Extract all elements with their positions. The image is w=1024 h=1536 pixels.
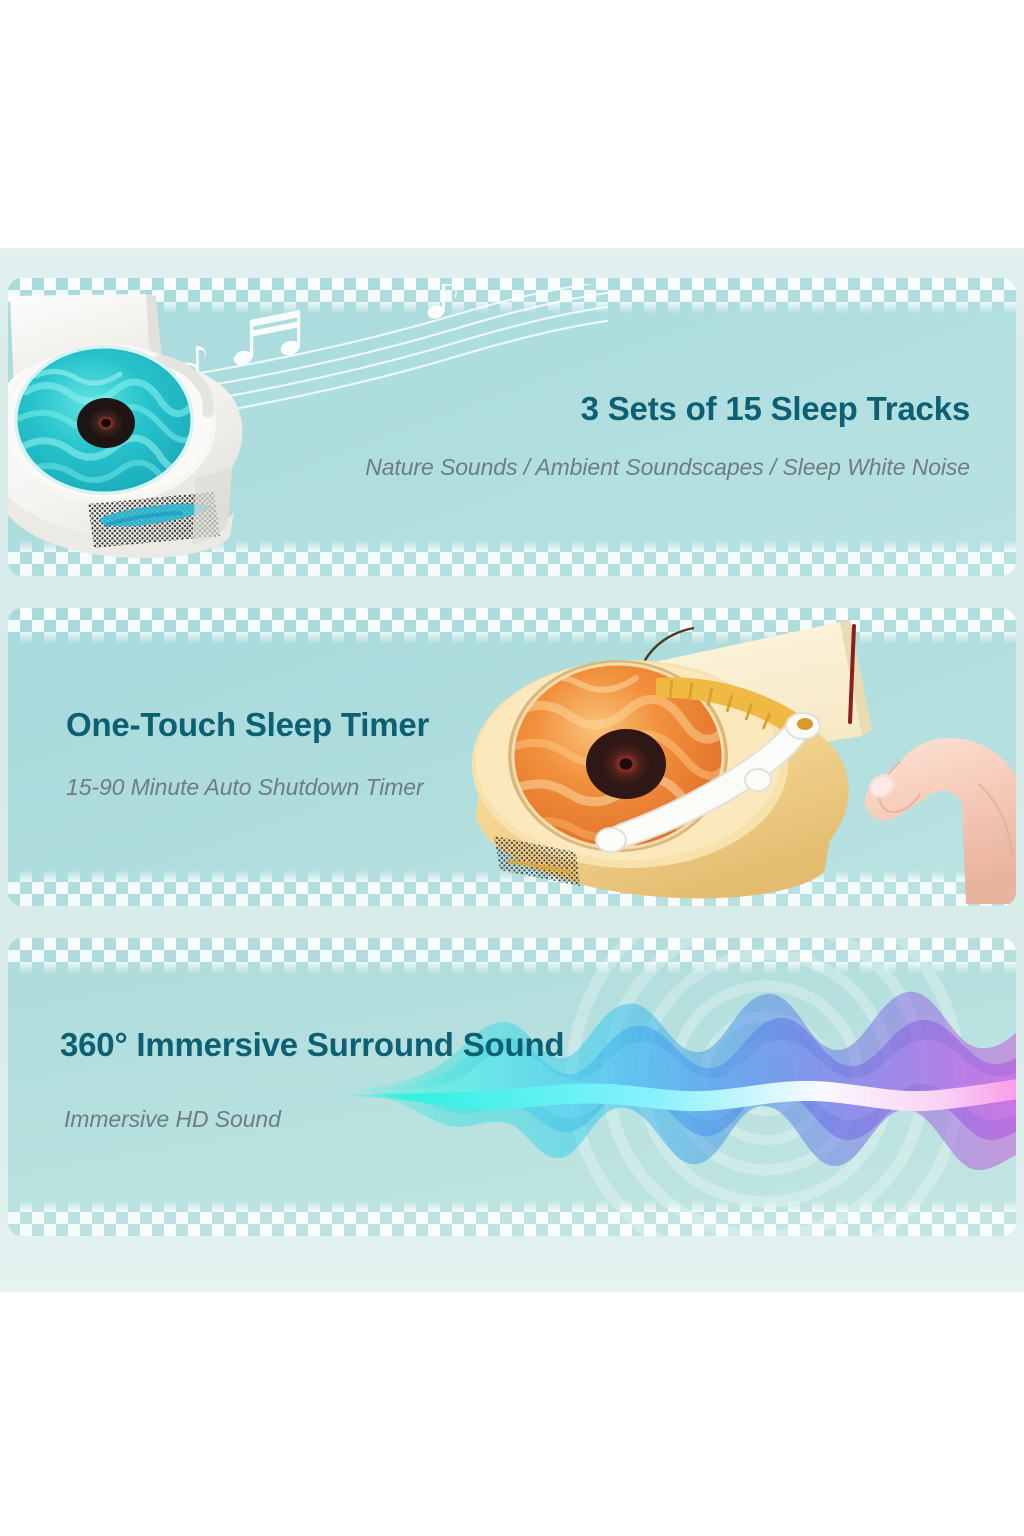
panel-headline: 3 Sets of 15 Sleep Tracks <box>581 390 970 428</box>
panel-subline: Nature Sounds / Ambient Soundscapes / Sl… <box>365 454 970 481</box>
panel-subline: 15-90 Minute Auto Shutdown Timer <box>66 774 424 801</box>
yellow-record-player-image <box>458 608 1016 904</box>
product-feature-graphic: 3 Sets of 15 Sleep Tracks Nature Sounds … <box>0 0 1024 1536</box>
feature-panel-sleep-timer: One-Touch Sleep Timer 15-90 Minute Auto … <box>8 608 1016 906</box>
panel-headline: One-Touch Sleep Timer <box>66 706 429 744</box>
hand-graphic <box>864 738 1016 904</box>
feature-panel-surround-sound: 360° Immersive Surround Sound Immersive … <box>8 938 1016 1236</box>
white-record-player-image <box>8 292 276 567</box>
panel-headline: 360° Immersive Surround Sound <box>60 1026 564 1064</box>
panel-subline: Immersive HD Sound <box>64 1106 281 1133</box>
feature-panel-sleep-tracks: 3 Sets of 15 Sleep Tracks Nature Sounds … <box>8 278 1016 576</box>
audio-waveform-graphic <box>338 938 1016 1236</box>
